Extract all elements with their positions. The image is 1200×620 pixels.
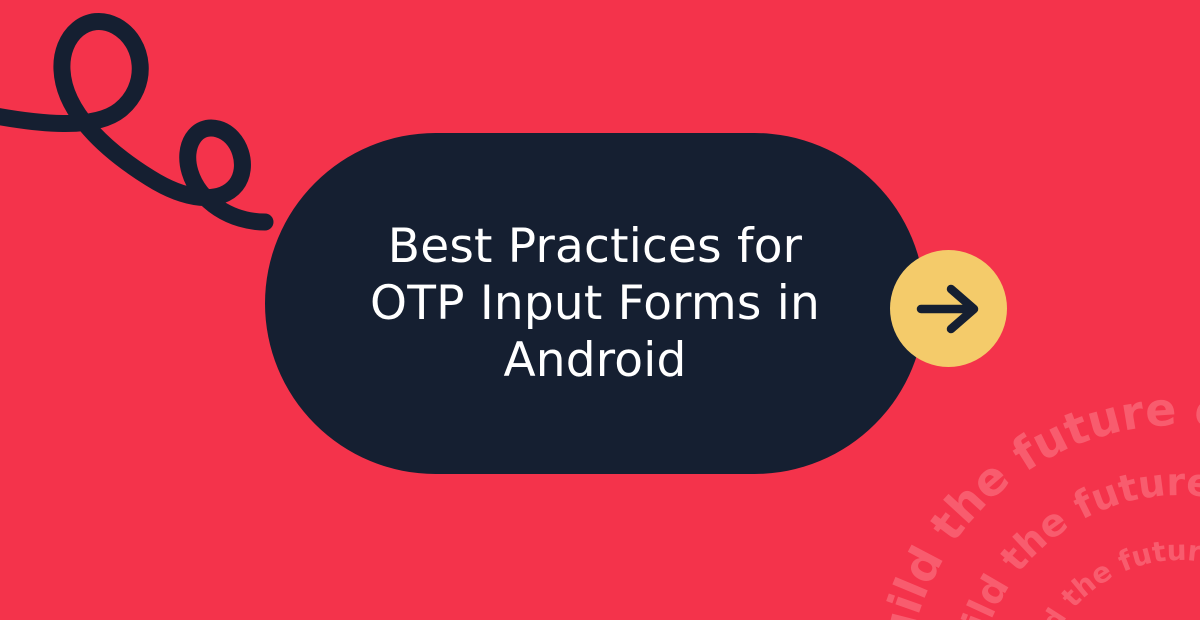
read-more-arrow-button[interactable]	[890, 250, 1007, 367]
title-card: Best Practices for OTP Input Forms in An…	[265, 133, 925, 474]
arrow-right-icon	[913, 283, 985, 335]
watermark-arc-2: Build the future of com	[940, 460, 1200, 620]
page-title: Best Practices for OTP Input Forms in An…	[370, 218, 820, 389]
watermark-arc-1: Build the future of com	[862, 382, 1200, 620]
watermark-arc-2-label: Build the future of com	[940, 460, 1200, 620]
watermark-arc-3-label: Build the future of com	[1014, 534, 1200, 620]
article-hero-banner: Build the future of com Build the future…	[0, 0, 1200, 620]
watermark-arc-1-label: Build the future of com	[862, 382, 1200, 620]
watermark-arc-3: Build the future of com	[1014, 534, 1200, 620]
squiggle-loop-path	[0, 21, 265, 222]
